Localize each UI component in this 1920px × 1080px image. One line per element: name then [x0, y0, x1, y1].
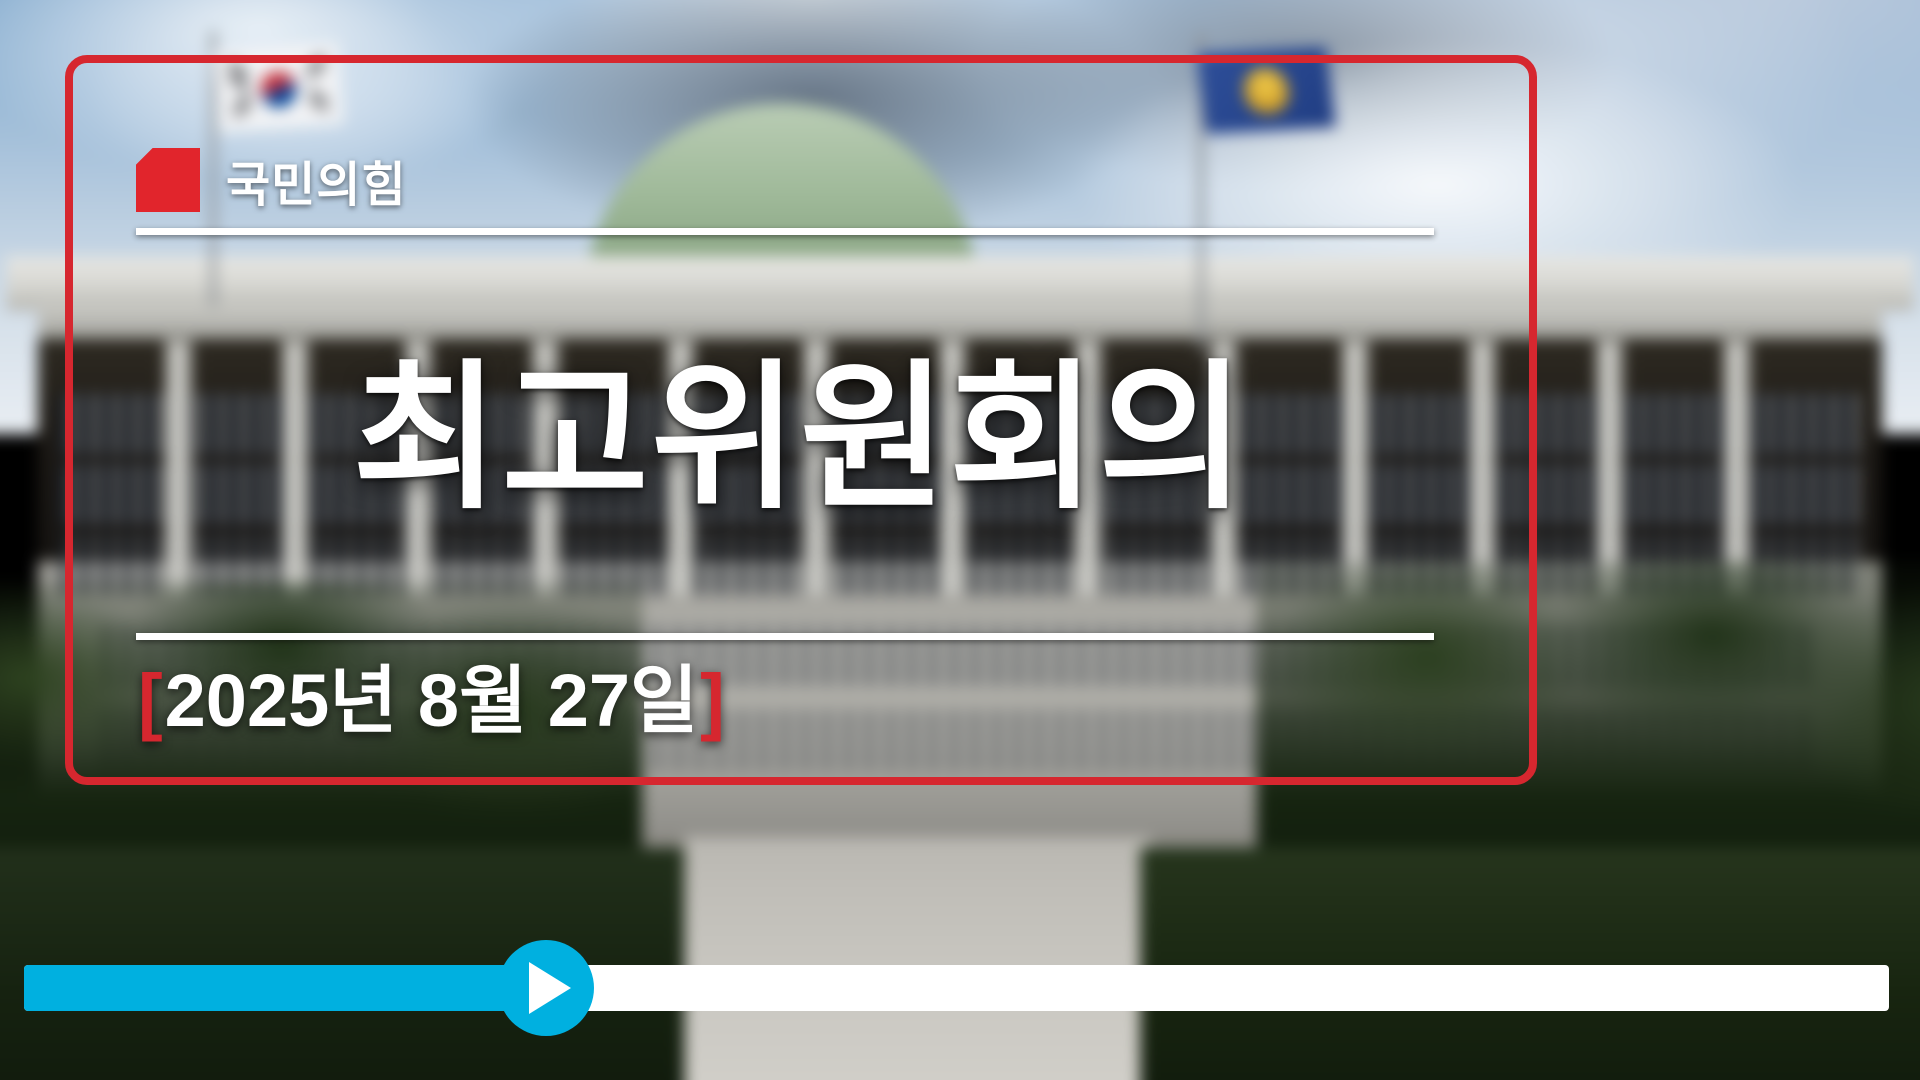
page-title: 최고위원회의: [0, 358, 1600, 518]
video-progress-track[interactable]: [24, 965, 1889, 1011]
taeguk-icon: [259, 70, 297, 108]
date-label: 2025년 8월 27일: [163, 660, 700, 741]
party-name-label: 국민의힘: [226, 145, 407, 215]
building-column: [1596, 341, 1624, 595]
play-button[interactable]: [498, 940, 594, 1036]
date-line: [ 2025년 8월 27일 ]: [138, 660, 725, 741]
building-entablature: [38, 305, 1882, 341]
building-roofline: [6, 256, 1914, 311]
divider-bottom: [136, 633, 1434, 640]
driveway: [684, 837, 1150, 1080]
korean-flag-icon: [213, 42, 344, 133]
play-icon: [529, 962, 571, 1014]
branding-header: 국민의힘: [136, 145, 407, 215]
divider-top: [136, 228, 1434, 235]
date-close-bracket: ]: [700, 660, 725, 741]
assembly-emblem-icon: [1241, 66, 1291, 115]
video-progress-fill: [24, 965, 546, 1011]
building-column: [1723, 341, 1751, 595]
hedge-right: [1140, 847, 1920, 1080]
national-assembly-flag-icon: [1197, 47, 1336, 134]
date-open-bracket: [: [138, 660, 163, 741]
video-frame: 국민의힘 최고위원회의 [ 2025년 8월 27일 ]: [0, 0, 1920, 1080]
party-emblem-icon: [136, 148, 200, 212]
